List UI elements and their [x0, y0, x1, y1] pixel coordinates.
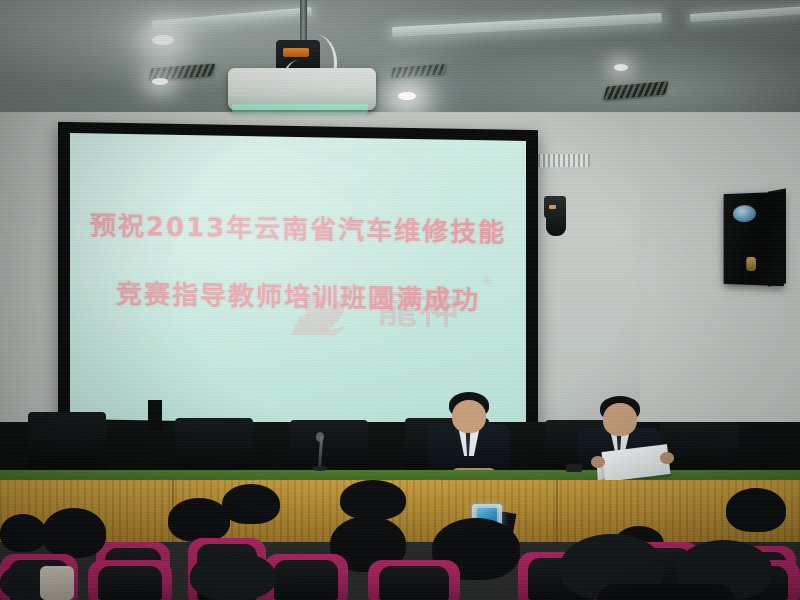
speaker-right-head — [603, 403, 637, 436]
audience-head — [222, 484, 280, 524]
speaker-woofer-icon — [746, 257, 756, 271]
speaker-right-hand-left — [591, 456, 605, 468]
wall-speaker — [724, 192, 784, 286]
chair-post — [148, 400, 162, 430]
audience-seat-cushion — [274, 560, 338, 600]
phone-on-table — [566, 464, 582, 472]
speaker-tweeter-icon — [733, 205, 756, 222]
audience-head — [340, 480, 406, 520]
audience-head — [190, 552, 276, 600]
audience-head — [726, 488, 786, 532]
speaker-left-head — [452, 400, 486, 433]
slide-headline-line-2: 竞赛指导教师培训班圆满成功 — [70, 273, 526, 318]
white-bag — [40, 566, 74, 600]
audience-seat-cushion — [379, 566, 449, 600]
slide-watermark: 龍神 ® — [285, 269, 515, 351]
watermark-brand-text: 龍神 — [377, 276, 461, 335]
audience-seat — [368, 560, 460, 600]
recessed-downlight-icon — [152, 35, 174, 45]
audience-head — [168, 498, 230, 542]
watermark-registered-mark: ® — [481, 274, 493, 288]
recessed-downlight-icon — [152, 78, 168, 85]
wall-camera-lens-icon — [546, 212, 566, 236]
recessed-downlight-icon — [398, 92, 416, 100]
audience-shoulders — [596, 584, 736, 600]
recessed-downlight-icon — [614, 64, 628, 71]
audience-seat — [88, 560, 172, 600]
speaker-right-hand-right — [660, 452, 674, 464]
ceiling — [0, 0, 800, 122]
wall-camera-indicator-icon — [549, 205, 556, 209]
audience-area — [0, 480, 800, 600]
audience-head — [42, 508, 106, 558]
presidium-chair — [28, 412, 106, 476]
audience-head — [0, 514, 46, 552]
presidium-chair — [175, 418, 253, 478]
projector-light-glow — [232, 104, 368, 116]
slide-headline-line-1: 预祝2013年云南省汽车维修技能 — [70, 205, 526, 250]
microphone-base — [312, 466, 328, 471]
projection-screen-surface: 预祝2013年云南省汽车维修技能 竞赛指导教师培训班圆满成功 龍神 ® — [70, 133, 526, 427]
conference-hall-photo: 预祝2013年云南省汽车维修技能 竞赛指导教师培训班圆满成功 龍神 ® — [0, 0, 800, 600]
audience-seat — [264, 554, 348, 600]
dragon-logo-icon — [285, 273, 377, 345]
audience-seat-cushion — [98, 566, 162, 600]
